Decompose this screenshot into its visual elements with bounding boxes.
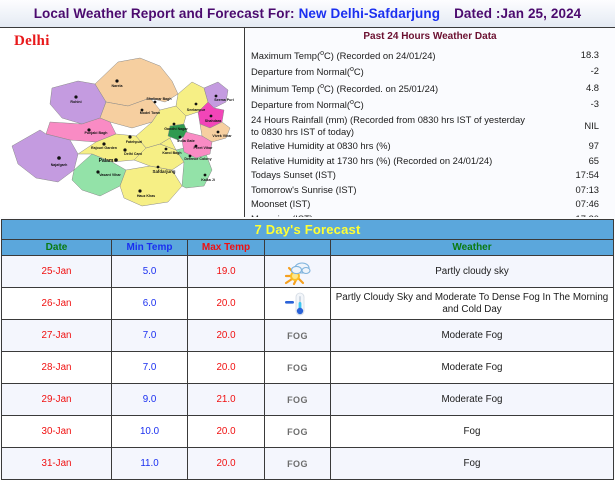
- cell-max-temp: 20.0: [188, 416, 265, 448]
- svg-text:Seelampur: Seelampur: [187, 108, 206, 112]
- row-value: 65: [531, 153, 615, 168]
- cell-date: 27-Jan: [2, 320, 112, 352]
- past-24h-table: Past 24 Hours Weather Data Maximum Temp(…: [245, 28, 615, 217]
- cell-date: 30-Jan: [2, 416, 112, 448]
- row-label: 24 Hours Rainfall (mm) (Recorded from 08…: [245, 113, 531, 139]
- svg-text:Fatehpuri: Fatehpuri: [126, 140, 142, 144]
- table-row: Tomorrow's Sunrise (IST) 07:13: [245, 182, 615, 197]
- table-row: 24 Hours Rainfall (mm) (Recorded from 08…: [245, 113, 615, 139]
- row-label: Departure from Normal(oC): [245, 96, 531, 113]
- page-title-prefix: Local Weather Report and Forecast For:: [34, 6, 295, 21]
- forecast-header-row: Date Min Temp Max Temp Weather: [2, 240, 614, 256]
- fog-label: FOG: [287, 459, 308, 469]
- cell-date: 28-Jan: [2, 352, 112, 384]
- cell-max-temp: 21.0: [188, 384, 265, 416]
- cell-max-temp: 20.0: [188, 352, 265, 384]
- row-label: Departure from Normal(oC): [245, 63, 531, 80]
- map-title: Delhi: [14, 33, 50, 50]
- table-row: 29-Jan 9.0 21.0 FOG Moderate Fog: [2, 384, 614, 416]
- cell-max-temp: 19.0: [188, 256, 265, 288]
- past-24h-panel: Past 24 Hours Weather Data Maximum Temp(…: [245, 28, 615, 217]
- svg-text:Preet Vihar: Preet Vihar: [194, 146, 214, 150]
- row-value: 17:54: [531, 168, 615, 183]
- table-row: Relative Humidity at 1730 hrs (%) (Recor…: [245, 153, 615, 168]
- cell-max-temp: 20.0: [188, 320, 265, 352]
- fog-label: FOG: [287, 331, 308, 341]
- row-label: Tomorrow's Sunrise (IST): [245, 182, 531, 197]
- table-row: Relative Humidity at 0830 hrs (%) 97: [245, 139, 615, 154]
- cell-max-temp: 20.0: [188, 448, 265, 480]
- page-title-location: New Delhi-Safdarjung: [299, 6, 441, 21]
- table-row: Minimum Temp (oC) (Recorded. on 25/01/24…: [245, 79, 615, 96]
- column-header-icon: [265, 240, 331, 256]
- cell-weather: Partly cloudy sky: [331, 256, 614, 288]
- table-row: Departure from Normal(oC) -3: [245, 96, 615, 113]
- svg-text:Seema Puri: Seema Puri: [214, 98, 234, 102]
- row-label: Moonset (IST): [245, 197, 531, 212]
- table-row: 28-Jan 7.0 20.0 FOG Moderate Fog: [2, 352, 614, 384]
- svg-text:Karol Bagh: Karol Bagh: [162, 151, 181, 155]
- cell-weather: Partly Cloudy Sky and Moderate To Dense …: [331, 288, 614, 320]
- cell-min-temp: 10.0: [112, 416, 188, 448]
- cell-date: 29-Jan: [2, 384, 112, 416]
- cell-weather: Moderate Fog: [331, 352, 614, 384]
- cell-min-temp: 6.0: [112, 288, 188, 320]
- table-row: 25-Jan 5.0 19.0: [2, 256, 614, 288]
- table-row: Moonset (IST) 07:46: [245, 197, 615, 212]
- table-row: 27-Jan 7.0 20.0 FOG Moderate Fog: [2, 320, 614, 352]
- svg-text:Defence Colony: Defence Colony: [184, 157, 211, 161]
- cell-weather: Fog: [331, 416, 614, 448]
- row-value: 17:30: [531, 211, 615, 217]
- cell-min-temp: 11.0: [112, 448, 188, 480]
- table-row: 26-Jan 6.0 20.0 Partly Cloudy Sky a: [2, 288, 614, 320]
- thermometer-cold-icon: [265, 288, 331, 320]
- svg-text:Rohini: Rohini: [70, 100, 81, 104]
- svg-text:Hauz Khas: Hauz Khas: [137, 194, 155, 198]
- cell-weather: Moderate Fog: [331, 384, 614, 416]
- table-row: Moonrise (IST) 17:30: [245, 211, 615, 217]
- row-value: 07:46: [531, 197, 615, 212]
- cell-date: 26-Jan: [2, 288, 112, 320]
- row-value: 4.8: [531, 79, 615, 96]
- svg-text:Shahdara: Shahdara: [205, 119, 222, 123]
- table-row: Maximum Temp(oC) (Recorded on 24/01/24) …: [245, 46, 615, 63]
- cell-max-temp: 20.0: [188, 288, 265, 320]
- fog-text-icon: FOG: [265, 384, 331, 416]
- cell-date: 31-Jan: [2, 448, 112, 480]
- row-label: Maximum Temp(oC) (Recorded on 24/01/24): [245, 46, 531, 63]
- top-section: Delhi: [0, 27, 615, 217]
- sun-cloud-icon: [265, 256, 331, 288]
- table-row: 31-Jan 11.0 20.0 FOG Fog: [2, 448, 614, 480]
- row-label: Todays Sunset (IST): [245, 168, 531, 183]
- column-header-date: Date: [2, 240, 112, 256]
- weather-report-page: Local Weather Report and Forecast For: N…: [0, 0, 615, 479]
- svg-text:Narela: Narela: [112, 84, 124, 88]
- cell-date: 25-Jan: [2, 256, 112, 288]
- fog-text-icon: FOG: [265, 352, 331, 384]
- cell-min-temp: 5.0: [112, 256, 188, 288]
- row-value: 97: [531, 139, 615, 154]
- cell-weather: Fog: [331, 448, 614, 480]
- table-row: 30-Jan 10.0 20.0 FOG Fog: [2, 416, 614, 448]
- row-label: Moonrise (IST): [245, 211, 531, 217]
- table-row: Todays Sunset (IST) 17:54: [245, 168, 615, 183]
- svg-text:Delhi Cant: Delhi Cant: [124, 152, 143, 156]
- svg-text:Vivek Vihar: Vivek Vihar: [212, 134, 232, 138]
- svg-text:Punjabi Bagh: Punjabi Bagh: [85, 131, 108, 135]
- row-label: Minimum Temp (oC) (Recorded. on 25/01/24…: [245, 79, 531, 96]
- svg-text:Safdarjung: Safdarjung: [153, 169, 176, 174]
- column-header-max-temp: Max Temp: [188, 240, 265, 256]
- fog-text-icon: FOG: [265, 416, 331, 448]
- cell-min-temp: 9.0: [112, 384, 188, 416]
- row-value: -2: [531, 63, 615, 80]
- svg-text:Shalimar Bagh: Shalimar Bagh: [146, 97, 171, 101]
- page-title-date: Dated :Jan 25, 2024: [454, 6, 581, 21]
- svg-text:Vasant Vihar: Vasant Vihar: [99, 173, 121, 177]
- fog-text-icon: FOG: [265, 448, 331, 480]
- column-header-min-temp: Min Temp: [112, 240, 188, 256]
- svg-text:Najafgarh: Najafgarh: [51, 163, 68, 167]
- delhi-map-panel: Delhi: [0, 28, 245, 217]
- forecast-title: 7 Day's Forecast: [2, 220, 614, 240]
- past-24h-caption: Past 24 Hours Weather Data: [245, 28, 615, 46]
- cell-weather: Moderate Fog: [331, 320, 614, 352]
- table-row: Departure from Normal(oC) -2: [245, 63, 615, 80]
- svg-text:Kalka Ji: Kalka Ji: [201, 178, 215, 182]
- forecast-section: 7 Day's Forecast Date Min Temp Max Temp …: [0, 219, 615, 480]
- cell-min-temp: 7.0: [112, 320, 188, 352]
- fog-label: FOG: [287, 395, 308, 405]
- past-24h-body: Maximum Temp(oC) (Recorded on 24/01/24) …: [245, 46, 615, 217]
- fog-label: FOG: [287, 363, 308, 373]
- page-title: Local Weather Report and Forecast For: N…: [0, 0, 615, 27]
- delhi-map-image: Narela Rohini Shalimar Bagh Model Town S…: [0, 36, 245, 217]
- forecast-title-row: 7 Day's Forecast: [2, 220, 614, 240]
- column-header-weather: Weather: [331, 240, 614, 256]
- forecast-table: 7 Day's Forecast Date Min Temp Max Temp …: [1, 219, 614, 480]
- row-value: 07:13: [531, 182, 615, 197]
- fog-text-icon: FOG: [265, 320, 331, 352]
- svg-text:Palam: Palam: [99, 158, 114, 164]
- svg-text:Model Town: Model Town: [140, 111, 161, 115]
- row-label: Relative Humidity at 0830 hrs (%): [245, 139, 531, 154]
- row-value: -3: [531, 96, 615, 113]
- svg-text:Rajouri Garden: Rajouri Garden: [91, 146, 117, 150]
- svg-text:Gandhi Nagar: Gandhi Nagar: [164, 127, 188, 131]
- row-label: Relative Humidity at 1730 hrs (%) (Recor…: [245, 153, 531, 168]
- fog-label: FOG: [287, 427, 308, 437]
- cell-min-temp: 7.0: [112, 352, 188, 384]
- row-value: 18.3: [531, 46, 615, 63]
- svg-text:India Gate: India Gate: [177, 139, 194, 143]
- row-value: NIL: [531, 113, 615, 139]
